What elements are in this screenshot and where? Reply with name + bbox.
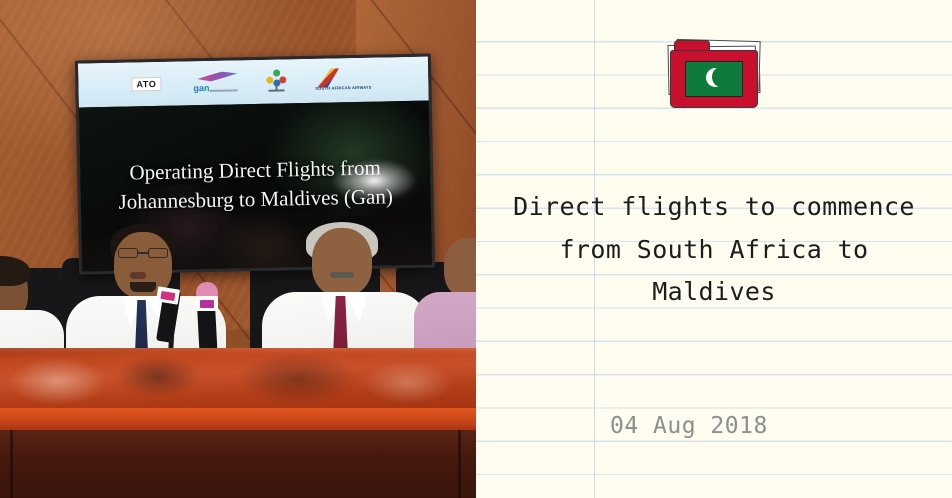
headline-line-2: from South Africa to — [494, 229, 934, 272]
partner-logo — [263, 69, 289, 94]
moustache — [330, 272, 354, 278]
maldives-flag-folder-icon — [662, 36, 766, 114]
table-edge — [0, 408, 476, 430]
headline-line-1: Direct flights to commence — [494, 186, 934, 229]
article-headline: Direct flights to commence from South Af… — [476, 186, 952, 314]
saa-logo-label: SOUTH AFRICAN AIRWAYS — [311, 85, 375, 91]
mic-flag-mark — [200, 300, 214, 308]
ato-logo-label: ATO — [131, 77, 161, 92]
partner-dot-green — [273, 69, 280, 76]
gan-logo-underline — [209, 89, 237, 92]
head — [444, 238, 476, 298]
table-leg — [458, 430, 461, 498]
table-front-panel — [0, 430, 476, 498]
article-date: 04 Aug 2018 — [476, 409, 952, 443]
south-african-airways-logo: SOUTH AFRICAN AIRWAYS — [311, 68, 375, 93]
ato-logo: ATO — [131, 77, 161, 92]
gan-swoosh-icon — [197, 71, 237, 83]
mouth — [130, 272, 146, 279]
partner-base — [268, 89, 284, 91]
mic-flag-logo — [156, 286, 180, 304]
eyeglasses-icon — [118, 248, 168, 258]
table-reflections — [0, 348, 476, 410]
head — [312, 228, 372, 296]
article-card: Direct flights to commence from South Af… — [476, 0, 952, 498]
news-card: ATO gan SOUTH AFRICAN AIRWA — [0, 0, 952, 498]
flag-crescent-icon — [706, 68, 725, 87]
conference-table — [0, 348, 476, 498]
gan-airport-logo: gan — [183, 70, 241, 95]
gan-logo-label: gan — [193, 83, 209, 93]
partner-dot-yellow — [266, 77, 273, 84]
press-conference-photo: ATO gan SOUTH AFRICAN AIRWA — [0, 0, 476, 498]
screen-glare — [332, 159, 417, 203]
headline-line-3: Maldives — [494, 271, 934, 314]
mic-flag-logo — [196, 296, 218, 311]
presentation-logo-bar: ATO gan SOUTH AFRICAN AIRWA — [78, 57, 429, 108]
mic-flag-mark — [160, 290, 175, 300]
beard — [130, 282, 156, 292]
table-leg — [10, 430, 13, 498]
